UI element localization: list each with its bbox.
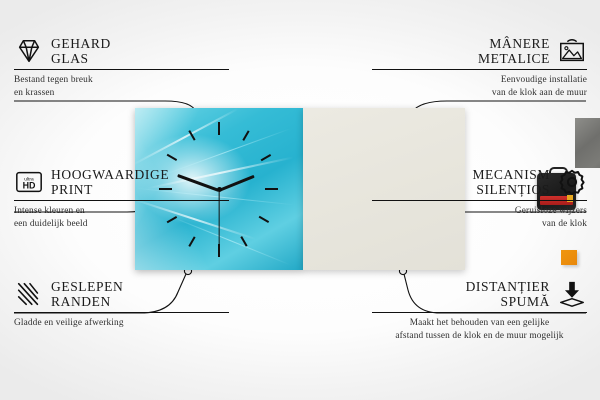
feature-title-line2: PRINT: [51, 182, 169, 197]
infographic-canvas: GEHARD GLAS Bestand tegen breuk en krass…: [0, 0, 600, 400]
clock-tick: [242, 130, 249, 140]
foam-spacer: [561, 250, 577, 265]
diamond-gem-icon: [14, 36, 44, 66]
feature-ground-edges: GESLEPEN RANDEN Gladde en veilige afwerk…: [14, 279, 229, 330]
metal-hanger-plate: [575, 118, 600, 168]
feature-title-line2: GLAS: [51, 51, 111, 66]
clock-tick: [218, 122, 220, 135]
ultra-hd-icon: ultra HD: [14, 167, 44, 197]
feature-title-line1: GEHARD: [51, 36, 111, 51]
feature-title-line2: METALICE: [478, 51, 550, 66]
feature-hd-print: ultra HD HOOGWAARDIGE PRINT Intense kleu…: [14, 167, 229, 230]
feature-tempered-glass: GEHARD GLAS Bestand tegen breuk en krass…: [14, 36, 229, 99]
feature-title-line1: MECANISM: [472, 167, 550, 182]
clock-tick: [188, 236, 195, 246]
feature-subtitle-line1: Geruisloze wijzers: [372, 205, 587, 218]
clock-tick: [167, 154, 177, 161]
feature-subtitle-line1: Gladde en veilige afwerking: [14, 317, 229, 330]
feature-subtitle-line1: Maakt het behouden van een gelijke: [372, 317, 587, 330]
feature-metal-handles: MÂNERE METALICE Eenvoudige installatie v…: [372, 36, 587, 99]
divider: [372, 312, 587, 313]
feature-subtitle-line2: van de klok aan de muur: [372, 87, 587, 100]
divider: [372, 69, 587, 70]
divider: [14, 200, 229, 201]
down-arrow-layers-icon: [557, 279, 587, 309]
clock-tick: [265, 188, 278, 190]
feature-title-line1: GESLEPEN: [51, 279, 123, 294]
feature-silent-mechanism: MECANISM SILENȚIOS Geruisloze wijzers va…: [372, 167, 587, 230]
feature-title-line2: SPUMĂ: [466, 294, 550, 309]
feature-subtitle-line1: Bestand tegen breuk: [14, 74, 229, 87]
feature-title-line1: MÂNERE: [478, 36, 550, 51]
gear-icon: [557, 167, 587, 197]
divider: [14, 69, 229, 70]
feature-subtitle-line1: Eenvoudige installatie: [372, 74, 587, 87]
picture-frame-icon: [557, 36, 587, 66]
feature-subtitle-line2: van de klok: [372, 218, 587, 231]
divider: [14, 312, 229, 313]
feature-subtitle-line2: afstand tussen de klok en de muur mogeli…: [372, 330, 587, 343]
feature-foam-spacer: DISTANȚIER SPUMĂ Maakt het behouden van …: [372, 279, 587, 342]
beveled-edges-icon: [14, 279, 44, 309]
clock-tick: [218, 244, 220, 257]
feature-title-line2: SILENȚIOS: [472, 182, 550, 197]
feature-subtitle-line2: en krassen: [14, 87, 229, 100]
feature-title-line1: DISTANȚIER: [466, 279, 550, 294]
feature-title-line1: HOOGWAARDIGE: [51, 167, 169, 182]
svg-text:HD: HD: [23, 181, 36, 191]
feature-subtitle-line2: een duidelijk beeld: [14, 218, 229, 231]
divider: [372, 200, 587, 201]
feature-subtitle-line1: Intense kleuren en: [14, 205, 229, 218]
feature-title-line2: RANDEN: [51, 294, 123, 309]
clock-tick: [261, 154, 271, 161]
clock-tick: [259, 216, 269, 223]
